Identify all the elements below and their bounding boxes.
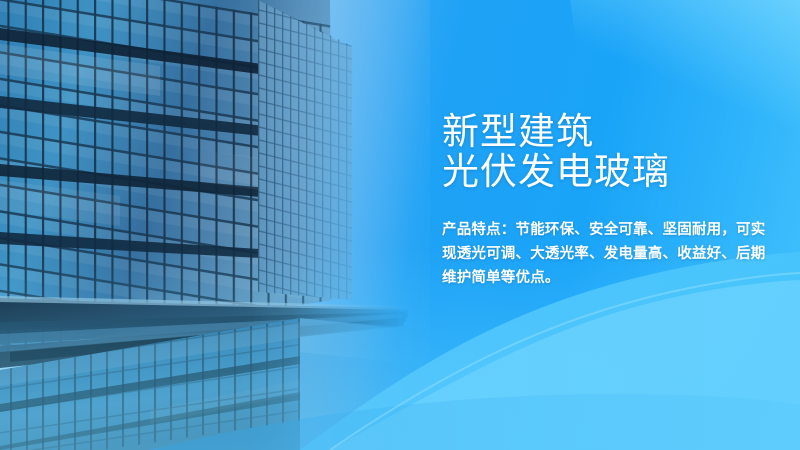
product-banner: 新型建筑 光伏发电玻璃 产品特点：节能环保、安全可靠、坚固耐用，可实现透光可调、… bbox=[0, 0, 800, 450]
headline: 新型建筑 光伏发电玻璃 bbox=[442, 112, 772, 192]
copy-block: 新型建筑 光伏发电玻璃 产品特点：节能环保、安全可靠、坚固耐用，可实现透光可调、… bbox=[442, 112, 772, 290]
headline-line-1: 新型建筑 bbox=[442, 112, 772, 152]
headline-line-2: 光伏发电玻璃 bbox=[442, 152, 772, 192]
product-features-text: 产品特点：节能环保、安全可靠、坚固耐用，可实现透光可调、大透光率、发电量高、收益… bbox=[442, 218, 772, 290]
